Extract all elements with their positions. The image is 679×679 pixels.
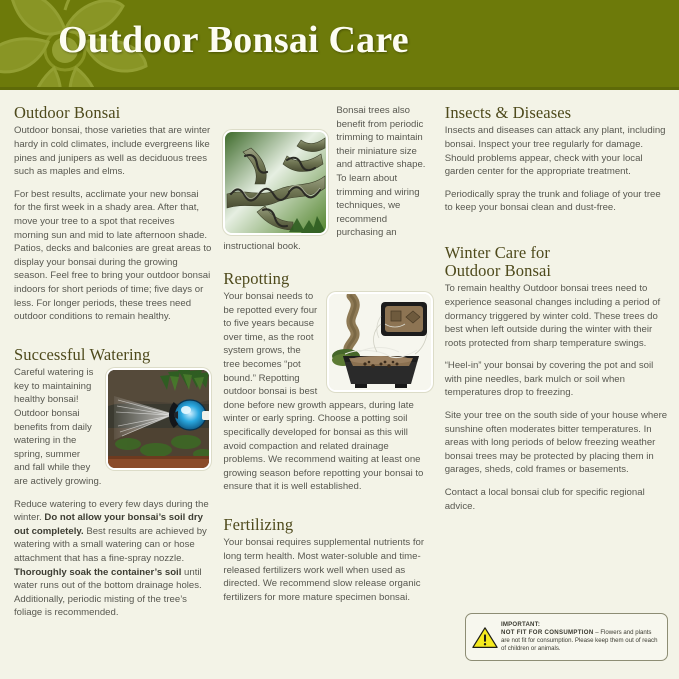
heading-outdoor-bonsai: Outdoor Bonsai <box>14 104 211 122</box>
page-header: Outdoor Bonsai Care <box>0 0 679 90</box>
warning-box: IMPORTANT:NOT FIT FOR CONSUMPTION – Flow… <box>465 613 668 661</box>
paragraph-winter-3: Site your tree on the south side of your… <box>445 409 669 477</box>
paragraph-outdoor-bonsai-2: For best results, acclimate your new bon… <box>14 188 211 324</box>
spacer <box>445 224 669 244</box>
paragraph-winter-2: “Heel-in” your bonsai by covering the po… <box>445 359 669 400</box>
header-divider <box>0 87 679 90</box>
heading-insects-diseases: Insects & Diseases <box>445 104 669 122</box>
winter-heading-line-1: Winter Care for <box>445 243 550 262</box>
paragraph-winter-1: To remain healthy Outdoor bonsai trees n… <box>445 282 669 350</box>
warning-line-2-bold: NOT FIT FOR CONSUMPTION <box>501 629 594 636</box>
watering-2-bold-2: Thoroughly soak the container’s soil <box>14 567 181 578</box>
column-middle: Bonsai trees also benefit from periodic … <box>223 104 444 679</box>
heading-repotting: Repotting <box>223 270 432 288</box>
heading-fertilizing: Fertilizing <box>223 516 432 534</box>
heading-winter-care: Winter Care forOutdoor Bonsai <box>445 244 669 280</box>
paragraph-fertilizing: Your bonsai requires supplemental nutrie… <box>223 536 432 604</box>
page-title: Outdoor Bonsai Care <box>58 18 409 62</box>
branch-photo <box>223 130 328 235</box>
column-left: Outdoor Bonsai Outdoor bonsai, those var… <box>14 104 223 679</box>
content-columns: Outdoor Bonsai Outdoor bonsai, those var… <box>0 92 679 679</box>
paragraph-outdoor-bonsai-1: Outdoor bonsai, those varieties that are… <box>14 124 211 178</box>
page-root: Outdoor Bonsai Care Outdoor Bonsai Outdo… <box>0 0 679 679</box>
warning-text: IMPORTANT:NOT FIT FOR CONSUMPTION – Flow… <box>498 621 661 654</box>
warning-triangle-icon <box>472 626 498 648</box>
column-right: Insects & Diseases Insects and diseases … <box>445 104 669 679</box>
paragraph-watering-2: Reduce watering to every few days during… <box>14 498 211 620</box>
paragraph-insects-1: Insects and diseases can attack any plan… <box>445 124 669 178</box>
pot-base-inset <box>377 302 427 338</box>
paragraph-winter-4: Contact a local bonsai club for specific… <box>445 486 669 513</box>
warning-line-1: IMPORTANT: <box>501 621 661 629</box>
heading-successful-watering: Successful Watering <box>14 346 211 364</box>
spacer <box>223 503 432 516</box>
wired-bonsai-branch-image <box>225 132 326 233</box>
repotting-photo <box>327 292 433 392</box>
watering-photo <box>106 368 211 470</box>
paragraph-insects-2: Periodically spray the trunk and foliage… <box>445 188 669 215</box>
spacer <box>14 333 211 346</box>
bonsai-repotting-image <box>329 294 431 390</box>
winter-heading-line-2: Outdoor Bonsai <box>445 261 551 280</box>
hose-nozzle-watering-image <box>108 370 209 468</box>
